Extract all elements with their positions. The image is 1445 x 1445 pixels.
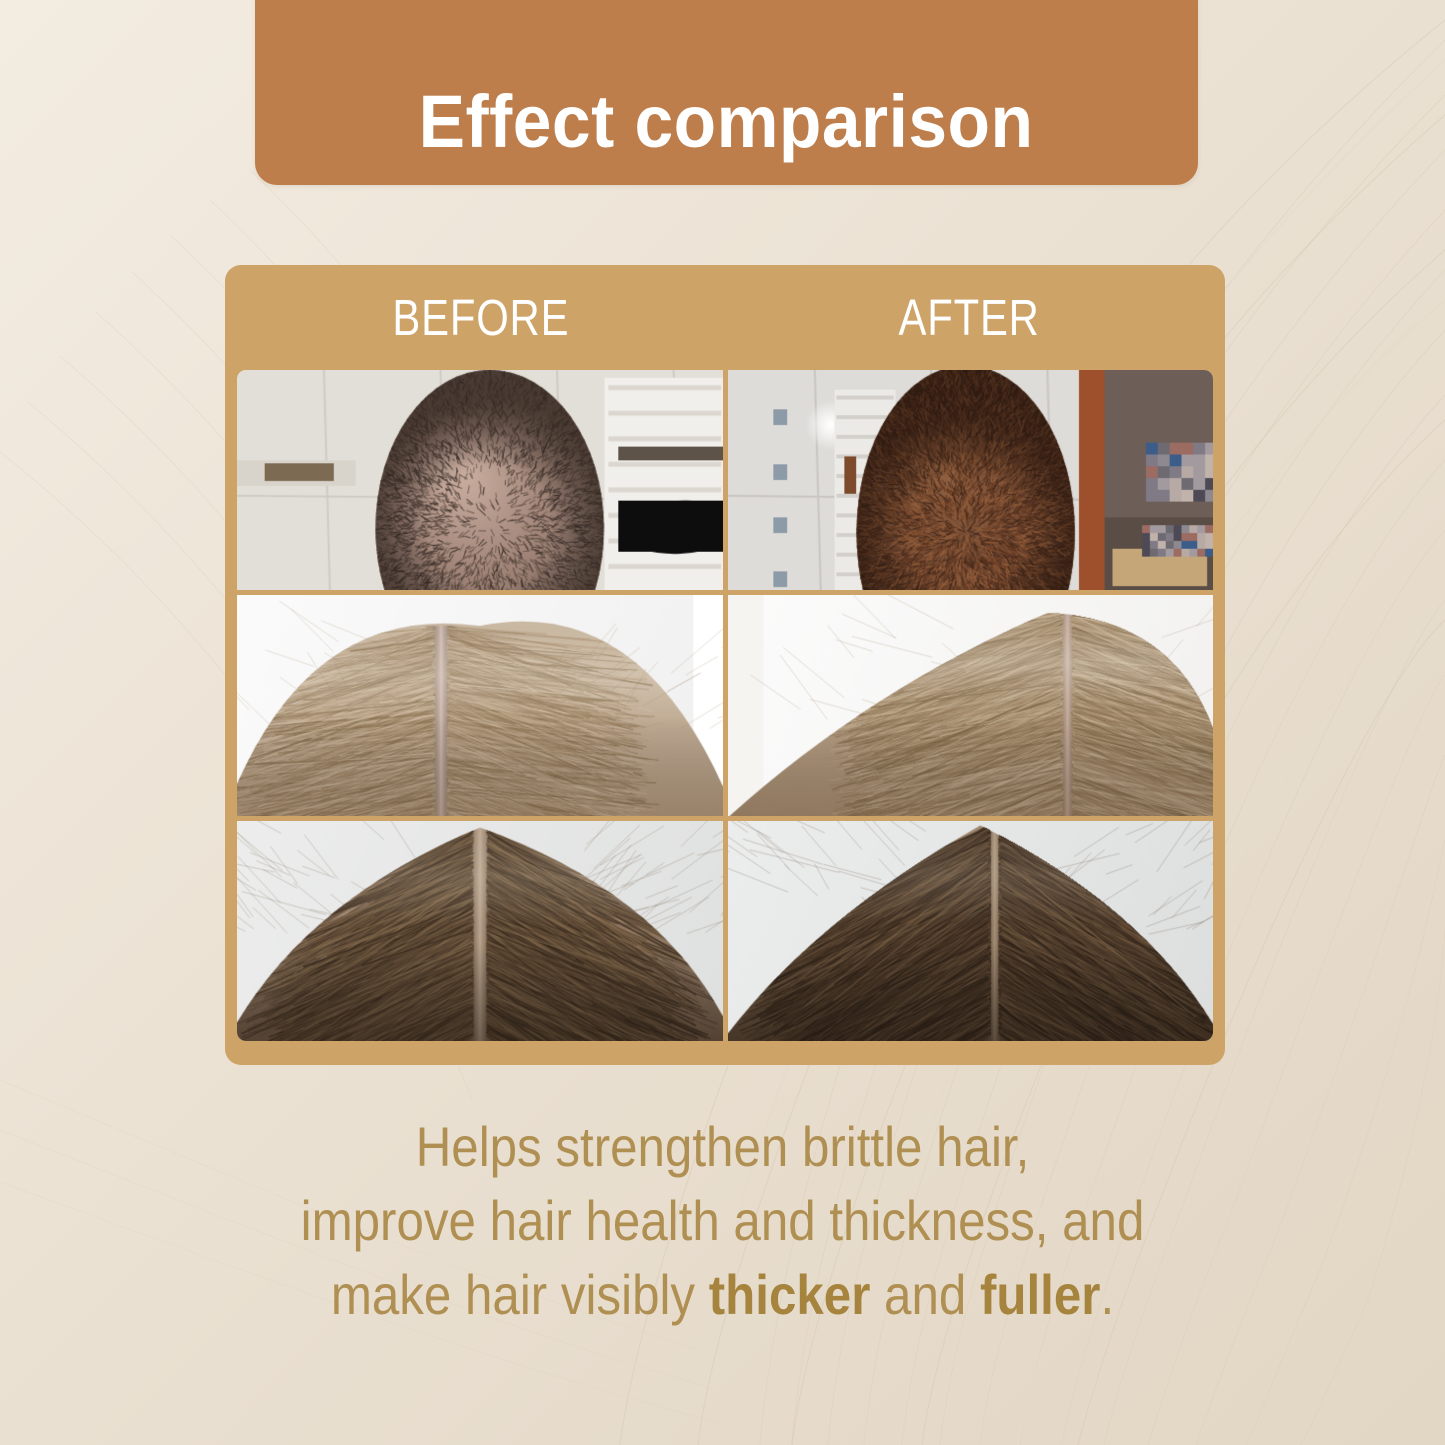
photo-row3-before bbox=[237, 821, 723, 1041]
caption-line-3: make hair visibly thicker and fuller. bbox=[87, 1258, 1359, 1332]
photo-row1-after bbox=[728, 370, 1214, 590]
title-banner: Effect comparison bbox=[255, 0, 1198, 185]
column-label-after: AFTER bbox=[898, 288, 1039, 347]
caption-line3-text1: make hair visibly bbox=[331, 1263, 709, 1326]
caption-emphasis-fuller: fuller bbox=[980, 1263, 1100, 1326]
photo-row1-before bbox=[237, 370, 723, 590]
caption-line3-text3: . bbox=[1100, 1263, 1114, 1326]
caption-emphasis-thicker: thicker bbox=[709, 1263, 871, 1326]
comparison-panel: BEFORE AFTER bbox=[225, 265, 1225, 1065]
caption-block: Helps strengthen brittle hair, improve h… bbox=[0, 1110, 1445, 1332]
comparison-image-grid bbox=[237, 370, 1213, 1041]
page-title: Effect comparison bbox=[419, 85, 1034, 159]
caption-line3-text2: and bbox=[870, 1263, 980, 1326]
caption-line-1: Helps strengthen brittle hair, bbox=[87, 1110, 1359, 1184]
column-header-after: AFTER bbox=[725, 265, 1213, 370]
caption-line-2: improve hair health and thickness, and bbox=[87, 1184, 1359, 1258]
column-header-before: BEFORE bbox=[237, 265, 725, 370]
poster-root: Effect comparison BEFORE AFTER bbox=[0, 0, 1445, 1445]
column-label-before: BEFORE bbox=[393, 288, 570, 347]
photo-row3-after bbox=[728, 821, 1214, 1041]
photo-row2-before bbox=[237, 595, 723, 815]
comparison-header: BEFORE AFTER bbox=[237, 265, 1213, 370]
photo-row2-after bbox=[728, 595, 1214, 815]
